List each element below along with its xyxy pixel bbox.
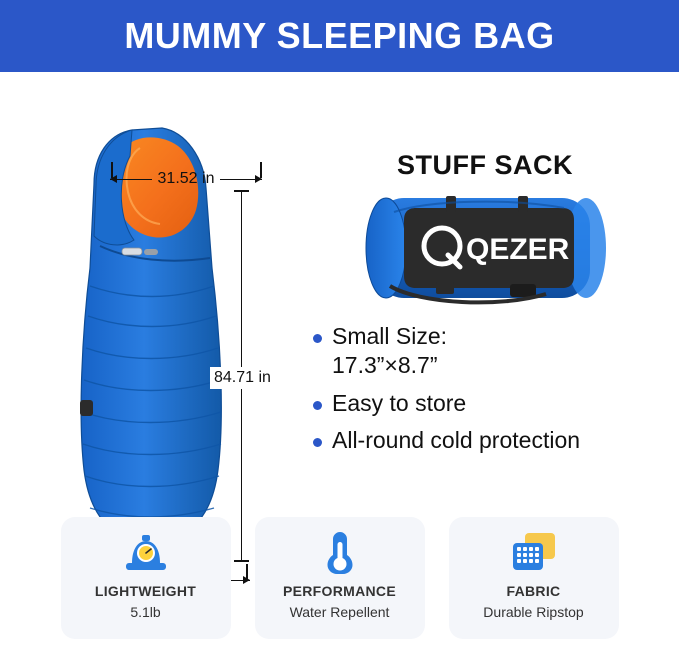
sleeping-bag-diagram: 31.52 in 19.7 in (48, 82, 258, 502)
dimension-width-label: 31.52 in (152, 170, 221, 188)
list-item: All-round cold protection (313, 426, 668, 455)
feature-card-subtitle: Durable Ripstop (483, 604, 583, 620)
header-banner: MUMMY SLEEPING BAG (0, 0, 679, 72)
svg-text:QEZER: QEZER (466, 233, 570, 266)
dimension-width-top: 31.52 in (110, 170, 262, 188)
feature-card-fabric: FABRIC Durable Ripstop (449, 517, 619, 639)
bullet-dot-icon (313, 401, 322, 410)
feature-bullet-list: Small Size: 17.3”×8.7” Easy to store All… (313, 322, 668, 464)
feature-card-title: LIGHTWEIGHT (95, 583, 196, 599)
feature-cards: LIGHTWEIGHT 5.1lb PERFORMANCE Water Repe… (0, 517, 679, 665)
bullet-text: Small Size: 17.3”×8.7” (332, 322, 447, 381)
tick-top-right (260, 162, 262, 178)
stuff-sack-title: STUFF SACK (370, 150, 600, 181)
dimension-height-cap-top (234, 190, 249, 192)
bullet-text: Easy to store (332, 389, 466, 418)
stuff-sack-image: QEZER (350, 182, 620, 317)
feature-card-subtitle: Water Repellent (290, 604, 390, 620)
feature-card-subtitle: 5.1lb (130, 604, 160, 620)
arrow-right (220, 179, 262, 180)
stuff-sack-illustration: QEZER (350, 182, 620, 322)
list-item: Small Size: 17.3”×8.7” (313, 322, 668, 381)
feature-card-performance: PERFORMANCE Water Repellent (255, 517, 425, 639)
feature-card-lightweight: LIGHTWEIGHT 5.1lb (61, 517, 231, 639)
main-content: 31.52 in 19.7 in 84.71 in STUFF SACK (0, 72, 679, 517)
arrow-left (110, 179, 152, 180)
dimension-height-label: 84.71 in (210, 367, 275, 389)
bullet-line-1: Small Size: (332, 323, 447, 349)
list-item: Easy to store (313, 389, 668, 418)
bullet-line-2: 17.3”×8.7” (332, 351, 447, 380)
bullet-dot-icon (313, 438, 322, 447)
tick-top-left (111, 162, 113, 178)
bullet-text: All-round cold protection (332, 426, 580, 455)
fabric-grid-icon (511, 529, 557, 575)
thermometer-icon (324, 529, 356, 575)
feature-card-title: PERFORMANCE (283, 583, 396, 599)
bullet-dot-icon (313, 334, 322, 343)
feature-card-title: FABRIC (507, 583, 561, 599)
page-title: MUMMY SLEEPING BAG (124, 15, 554, 57)
scale-icon (124, 529, 168, 575)
